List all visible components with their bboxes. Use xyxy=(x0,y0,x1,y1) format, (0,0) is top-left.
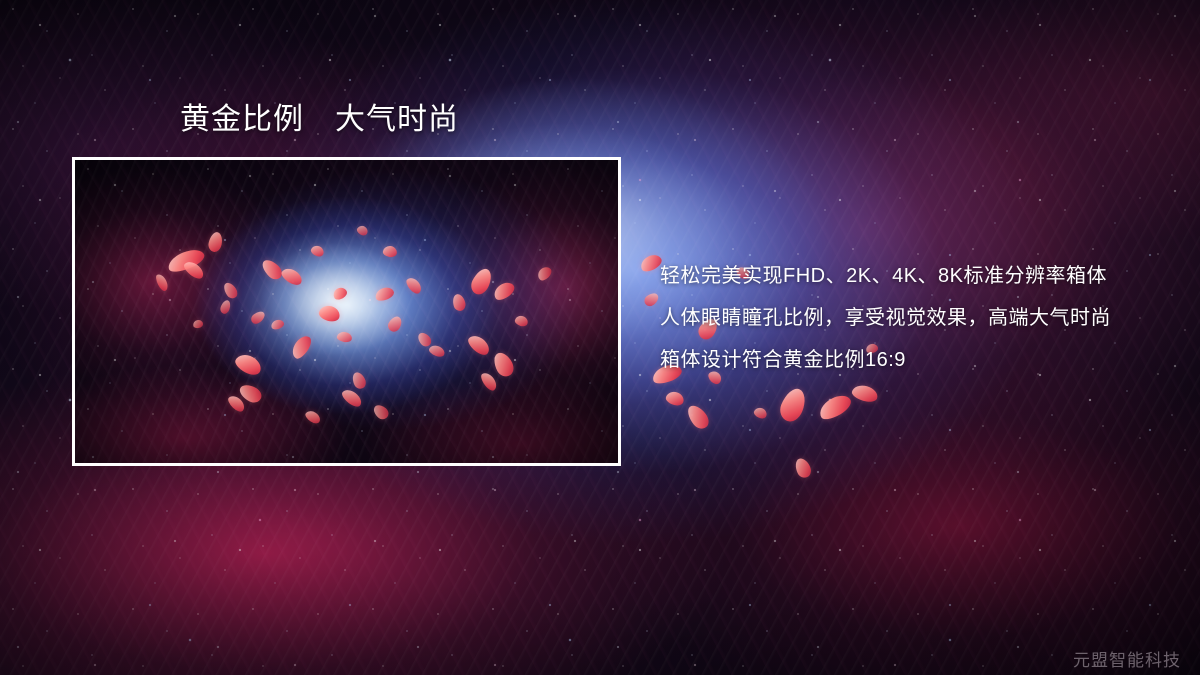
inner-vignette-overlay xyxy=(75,160,618,463)
petal-shape xyxy=(793,456,814,480)
petal-shape xyxy=(776,385,809,425)
petal-shape xyxy=(850,383,879,405)
page-title: 黄金比例 大气时尚 xyxy=(180,100,459,140)
petal-shape xyxy=(753,406,769,420)
petal-shape xyxy=(642,291,661,309)
body-line: 箱体设计符合黄金比例16:9 xyxy=(660,339,1170,381)
petal-shape xyxy=(816,391,854,424)
body-line: 人体眼睛瞳孔比例，享受视觉效果，高端大气时尚 xyxy=(660,297,1170,339)
body-line: 轻松完美实现FHD、2K、4K、8K标准分辨率箱体 xyxy=(660,255,1170,297)
petal-shape xyxy=(664,390,685,408)
framed-galaxy-image xyxy=(72,157,621,466)
watermark: 元盟智能科技 xyxy=(1073,650,1181,672)
petal-shape xyxy=(684,402,713,432)
presentation-slide: 黄金比例 大气时尚 轻松完美实现FHD、2K、4K、8K标准分辨率箱体 人体眼睛… xyxy=(0,0,1200,675)
body-text-block: 轻松完美实现FHD、2K、4K、8K标准分辨率箱体 人体眼睛瞳孔比例，享受视觉效… xyxy=(660,255,1170,381)
